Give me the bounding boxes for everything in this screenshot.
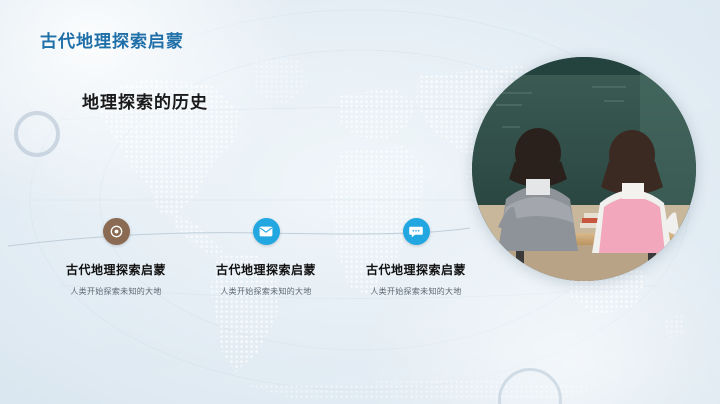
feature-desc: 人类开始探索未知的大地 [340,286,492,297]
page-title: 古代地理探索启蒙 [40,27,184,52]
feature-item-2[interactable]: 古代地理探索启蒙 人类开始探索未知的大地 [340,218,492,297]
slide-canvas: 古代地理探索启蒙 地理探索的历史 [0,0,720,404]
chat-icon[interactable] [403,218,430,245]
feature-item-0[interactable]: 古代地理探索启蒙 人类开始探索未知的大地 [40,218,192,297]
mail-icon[interactable] [253,218,280,245]
feature-desc: 人类开始探索未知的大地 [190,286,342,297]
feature-title: 古代地理探索启蒙 [190,261,342,278]
feature-title: 古代地理探索启蒙 [340,261,492,278]
feature-desc: 人类开始探索未知的大地 [40,286,192,297]
page-subtitle: 地理探索的历史 [82,88,208,113]
decorative-ring-left [14,111,60,157]
feature-list: 古代地理探索启蒙 人类开始探索未知的大地 古代地理探索启蒙 人类开始探索未知的大… [0,218,720,328]
feature-title: 古代地理探索启蒙 [40,261,192,278]
feature-item-1[interactable]: 古代地理探索启蒙 人类开始探索未知的大地 [190,218,342,297]
target-icon[interactable] [103,218,130,245]
